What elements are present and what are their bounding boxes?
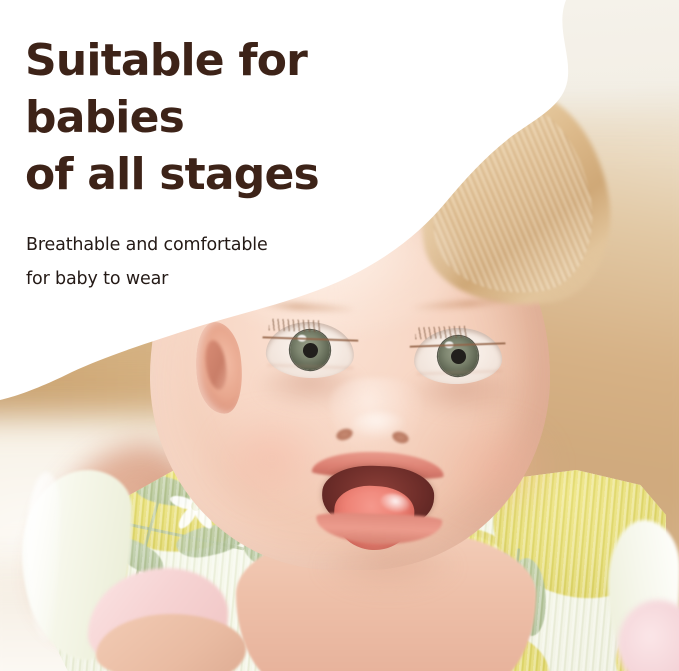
page-title: Suitable for babies of all stages [25,32,455,204]
baby-eye-right [413,326,503,385]
cheek-right [432,416,558,516]
chin-shadow [318,546,458,594]
eyelashes [269,319,323,333]
product-banner: Suitable for babies of all stages Breath… [0,0,679,671]
eyelashes [415,326,469,340]
subtitle-text: Breathable and comfortable for baby to w… [26,228,356,296]
baby-eye-left [265,320,355,379]
cheek-left [212,410,332,506]
